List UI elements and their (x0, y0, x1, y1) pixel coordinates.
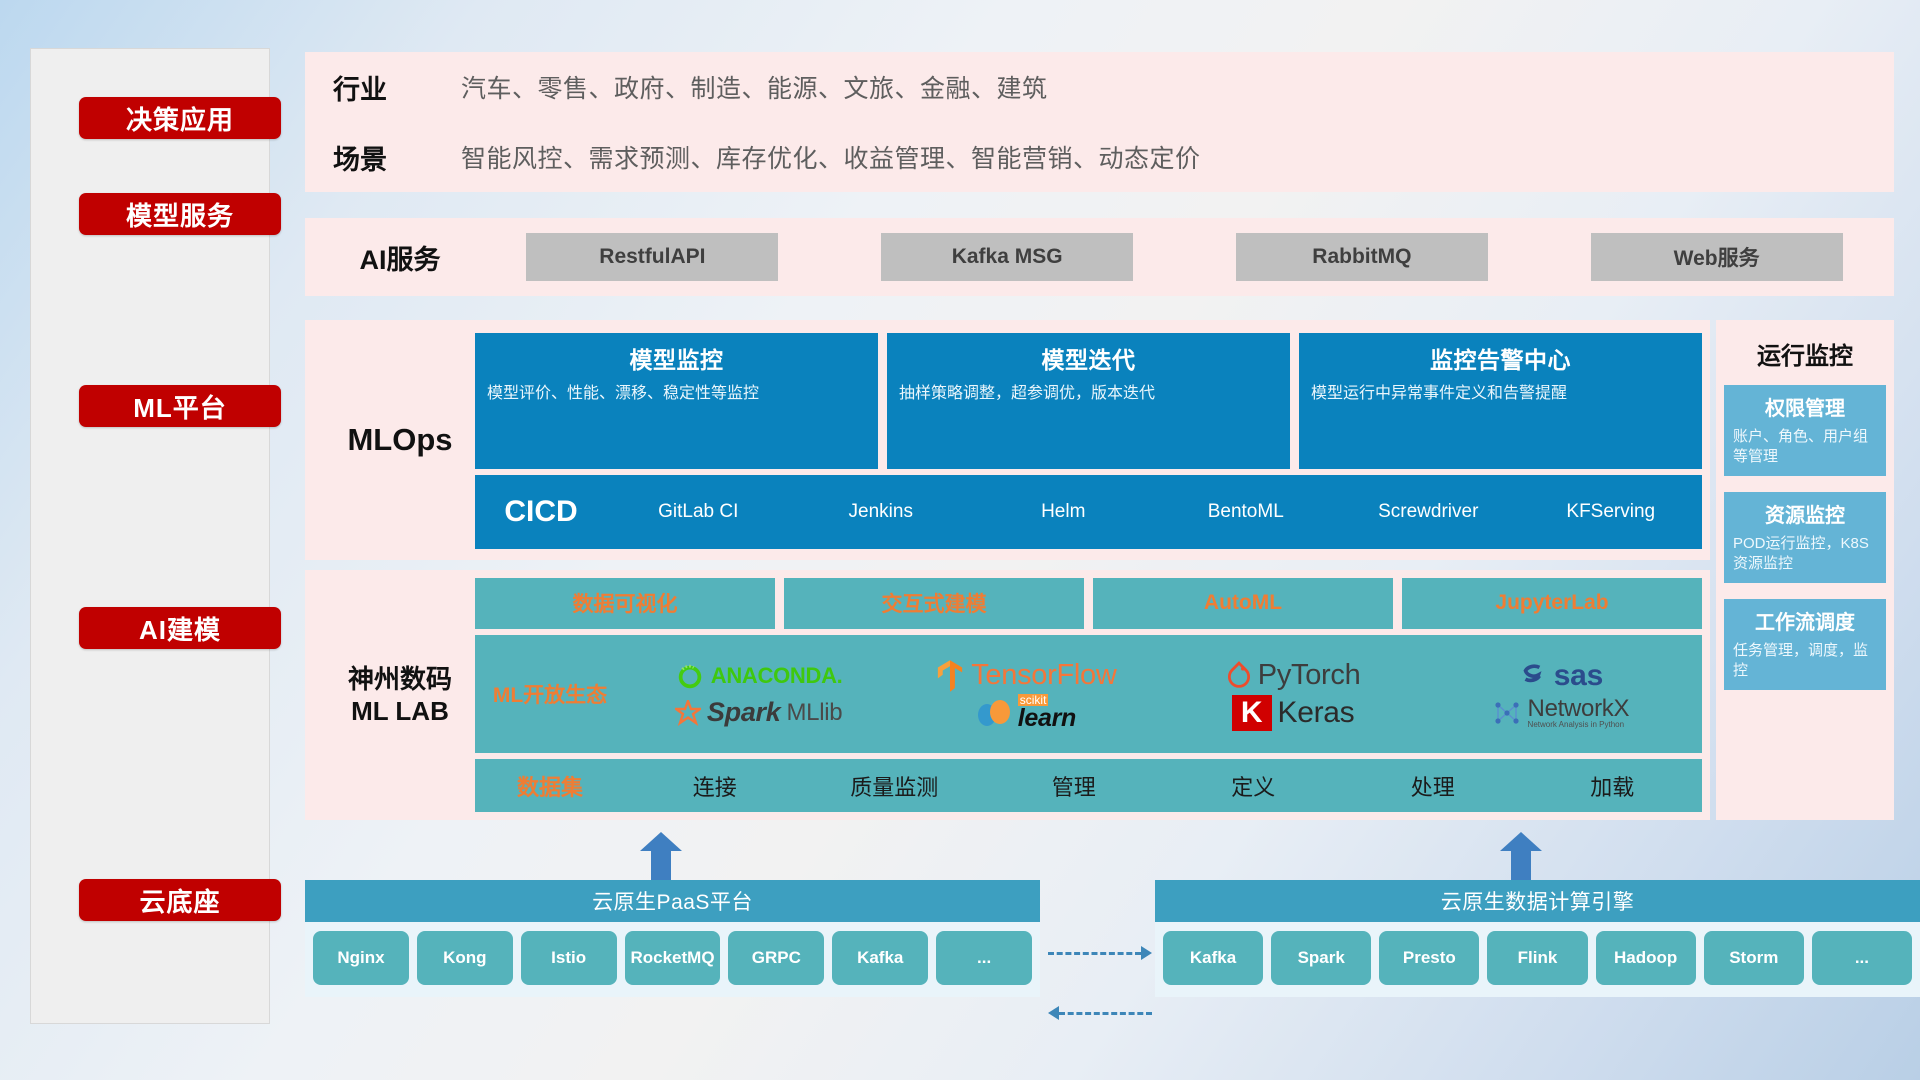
dataset-item-define[interactable]: 定义 (1164, 770, 1344, 802)
cicd-item-jenkins[interactable]: Jenkins (790, 500, 973, 524)
monitor-card-resource[interactable]: 资源监控 POD运行监控，K8S资源监控 (1724, 492, 1886, 583)
scikit-learn-mark-icon (976, 697, 1012, 729)
sas-logo: sas (1518, 659, 1603, 693)
paas-chip-kong[interactable]: Kong (417, 931, 513, 985)
networkx-wordmark: NetworkX (1528, 696, 1630, 721)
dataset-row: 数据集 连接 质量监测 管理 定义 处理 加载 (475, 759, 1702, 812)
lab-tab-jupyterlab[interactable]: JupyterLab (1402, 578, 1702, 629)
runtime-monitor-panel: 运行监控 权限管理 账户、角色、用户组等管理 资源监控 POD运行监控，K8S资… (1716, 320, 1894, 820)
keras-mark-icon: K (1232, 695, 1272, 731)
cicd-item-bentoml[interactable]: BentoML (1155, 500, 1338, 524)
pytorch-wordmark: PyTorch (1258, 659, 1361, 692)
dataset-item-process[interactable]: 处理 (1343, 770, 1523, 802)
spark-wordmark: Spark (707, 697, 781, 728)
ml-lab-label-line1: 神州数码 (325, 663, 475, 696)
mlops-card-desc: 模型评价、性能、漂移、稳定性等监控 (487, 383, 866, 405)
tensorflow-logo: TensorFlow (935, 659, 1116, 693)
monitor-card-desc: 任务管理，调度，监控 (1733, 641, 1877, 680)
scikit-learn-logo: scikit learn (976, 694, 1076, 731)
mlops-card-model-monitor[interactable]: 模型监控 模型评价、性能、漂移、稳定性等监控 (475, 333, 878, 469)
paas-chip-istio[interactable]: Istio (521, 931, 617, 985)
mlops-label: MLOps (325, 422, 475, 458)
cicd-item-gitlab-ci[interactable]: GitLab CI (607, 500, 790, 524)
anaconda-logo: ANACONDA. (675, 661, 843, 691)
industry-scenario-band: 行业 汽车、零售、政府、制造、能源、文旅、金融、建筑 场景 智能风控、需求预测、… (305, 52, 1894, 192)
mlops-band: MLOps 模型监控 模型评价、性能、漂移、稳定性等监控 模型迭代 抽样策略调整… (305, 320, 1710, 560)
rail-badge-model-serve[interactable]: 模型服务 (79, 193, 281, 235)
monitor-card-workflow[interactable]: 工作流调度 任务管理，调度，监控 (1724, 599, 1886, 690)
ai-service-band: AI服务 RestfulAPI Kafka MSG RabbitMQ Web服务 (305, 218, 1894, 296)
industry-row: 行业 汽车、零售、政府、制造、能源、文旅、金融、建筑 (333, 52, 1894, 122)
ml-lab-label: 神州数码 ML LAB (325, 663, 475, 728)
anaconda-wordmark: ANACONDA. (711, 663, 843, 689)
compute-chip-flink[interactable]: Flink (1487, 931, 1587, 985)
cicd-item-kfserving[interactable]: KFServing (1520, 500, 1703, 524)
dataset-item-manage[interactable]: 管理 (984, 770, 1164, 802)
anaconda-mark-icon (675, 661, 705, 691)
ai-chip-rabbitmq[interactable]: RabbitMQ (1236, 233, 1488, 281)
sas-mark-icon (1518, 662, 1548, 690)
rail-badge-decision[interactable]: 决策应用 (79, 97, 281, 139)
ai-chip-restfulapi[interactable]: RestfulAPI (526, 233, 778, 281)
ai-service-label: AI服务 (325, 238, 475, 277)
cicd-item-screwdriver[interactable]: Screwdriver (1337, 500, 1520, 524)
mlops-card-desc: 模型运行中异常事件定义和告警提醒 (1311, 383, 1690, 405)
rail-badge-cloud-base[interactable]: 云底座 (79, 879, 281, 921)
paas-chip-nginx[interactable]: Nginx (313, 931, 409, 985)
compute-chip-hadoop[interactable]: Hadoop (1596, 931, 1696, 985)
architecture-diagram: 决策应用 模型服务 ML平台 AI建模 云底座 行业 汽车、零售、政府、制造、能… (0, 0, 1920, 1080)
lab-tab-interactive-modeling[interactable]: 交互式建模 (784, 578, 1084, 629)
compute-chip-kafka[interactable]: Kafka (1163, 931, 1263, 985)
mlops-card-model-iteration[interactable]: 模型迭代 抽样策略调整，超参调优，版本迭代 (887, 333, 1290, 469)
learn-wordmark: learn (1018, 706, 1076, 731)
paas-up-arrow-icon (640, 832, 682, 880)
scenario-label: 场景 (333, 138, 461, 177)
mlops-card-desc: 抽样策略调整，超参调优，版本迭代 (899, 383, 1278, 405)
compute-to-paas-arrow-icon (1048, 1006, 1152, 1020)
monitor-card-title: 权限管理 (1733, 392, 1877, 421)
monitor-card-title: 资源监控 (1733, 499, 1877, 528)
ai-chip-web-service[interactable]: Web服务 (1591, 233, 1843, 281)
layer-rail: 决策应用 模型服务 ML平台 AI建模 云底座 (30, 48, 270, 1024)
tensorflow-wordmark: TensorFlow (971, 659, 1116, 692)
scenario-row: 场景 智能风控、需求预测、库存优化、收益管理、智能营销、动态定价 (333, 122, 1894, 192)
cicd-item-helm[interactable]: Helm (972, 500, 1155, 524)
spark-star-icon (675, 700, 701, 726)
ml-lab-band: 神州数码 ML LAB 数据可视化 交互式建模 AutoML JupyterLa… (305, 570, 1710, 820)
compute-chip-storm[interactable]: Storm (1704, 931, 1804, 985)
rail-badge-ai-modeling[interactable]: AI建模 (79, 607, 281, 649)
ml-ecosystem-row: ML开放生态 ANACONDA. (475, 635, 1702, 754)
ai-chip-kafka-msg[interactable]: Kafka MSG (881, 233, 1133, 281)
cloud-compute-title: 云原生数据计算引擎 (1155, 880, 1920, 922)
keras-wordmark: Keras (1278, 696, 1355, 730)
networkx-logo: NetworkX Network Analysis in Python (1492, 696, 1630, 730)
compute-chip-more[interactable]: ... (1812, 931, 1912, 985)
sas-wordmark: sas (1554, 659, 1603, 693)
dataset-item-quality[interactable]: 质量监测 (805, 770, 985, 802)
mlops-card-title: 模型监控 (487, 341, 866, 375)
lab-tab-data-visualization[interactable]: 数据可视化 (475, 578, 775, 629)
industry-value: 汽车、零售、政府、制造、能源、文旅、金融、建筑 (461, 69, 1048, 105)
lab-tab-automl[interactable]: AutoML (1093, 578, 1393, 629)
runtime-monitor-title: 运行监控 (1724, 336, 1886, 371)
cloud-paas-block: 云原生PaaS平台 Nginx Kong Istio RocketMQ GRPC… (305, 880, 1040, 997)
cloud-paas-title: 云原生PaaS平台 (305, 880, 1040, 922)
compute-chip-spark[interactable]: Spark (1271, 931, 1371, 985)
tensorflow-mark-icon (935, 659, 965, 693)
paas-chip-more[interactable]: ... (936, 931, 1032, 985)
mlops-card-title: 模型迭代 (899, 341, 1278, 375)
mllib-wordmark: MLlib (786, 699, 842, 727)
rail-badge-ml-platform[interactable]: ML平台 (79, 385, 281, 427)
dataset-label: 数据集 (475, 770, 625, 802)
scenario-value: 智能风控、需求预测、库存优化、收益管理、智能营销、动态定价 (461, 139, 1201, 175)
cicd-title: CICD (475, 495, 607, 529)
mlops-card-alert-center[interactable]: 监控告警中心 模型运行中异常事件定义和告警提醒 (1299, 333, 1702, 469)
ml-lab-label-line2: ML LAB (325, 695, 475, 728)
monitor-card-desc: 账户、角色、用户组等管理 (1733, 427, 1877, 466)
monitor-card-permission[interactable]: 权限管理 账户、角色、用户组等管理 (1724, 385, 1886, 476)
pytorch-mark-icon (1226, 661, 1252, 691)
paas-chip-grpc[interactable]: GRPC (728, 931, 824, 985)
paas-chip-kafka[interactable]: Kafka (832, 931, 928, 985)
cloud-compute-block: 云原生数据计算引擎 Kafka Spark Presto Flink Hadoo… (1155, 880, 1920, 997)
dataset-item-load[interactable]: 加载 (1523, 770, 1703, 802)
ml-ecosystem-label: ML开放生态 (475, 679, 625, 709)
networkx-tagline: Network Analysis in Python (1528, 721, 1625, 729)
mlops-card-title: 监控告警中心 (1311, 341, 1690, 375)
networkx-mark-icon (1492, 698, 1522, 728)
compute-up-arrow-icon (1500, 832, 1542, 880)
monitor-card-desc: POD运行监控，K8S资源监控 (1733, 534, 1877, 573)
cicd-bar: CICD GitLab CI Jenkins Helm BentoML Scre… (475, 475, 1702, 549)
spark-mllib-logo: Spark MLlib (675, 697, 842, 728)
dataset-item-connect[interactable]: 连接 (625, 770, 805, 802)
compute-chip-presto[interactable]: Presto (1379, 931, 1479, 985)
paas-to-compute-arrow-icon (1048, 946, 1152, 960)
pytorch-logo: PyTorch (1226, 659, 1361, 692)
paas-chip-rocketmq[interactable]: RocketMQ (625, 931, 721, 985)
monitor-card-title: 工作流调度 (1733, 606, 1877, 635)
keras-logo: K Keras (1232, 695, 1355, 731)
industry-label: 行业 (333, 68, 461, 107)
